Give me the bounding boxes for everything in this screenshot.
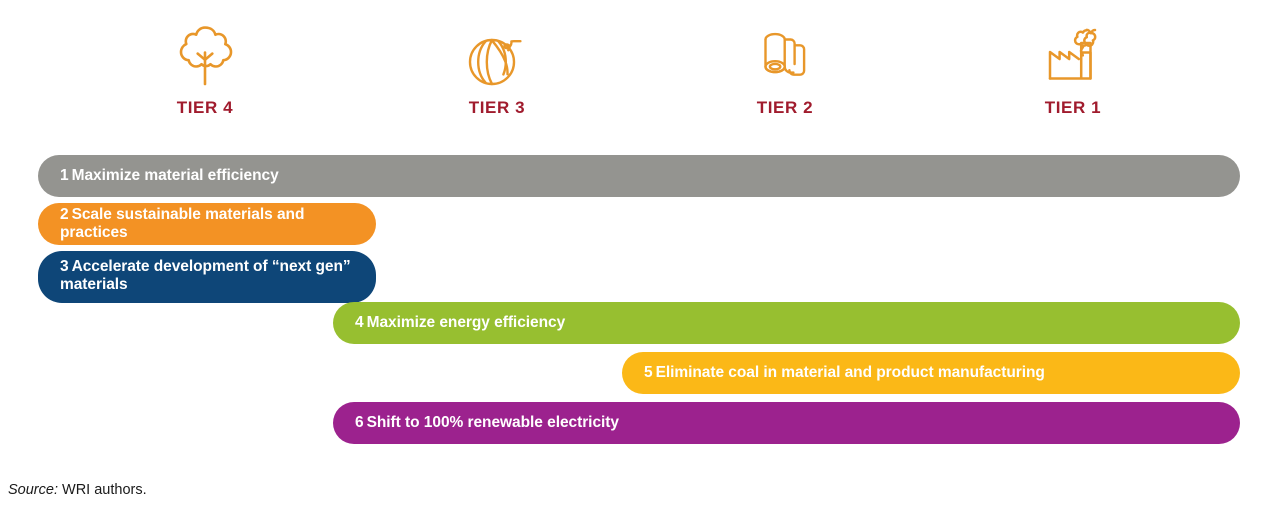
source-text: WRI authors.: [62, 482, 147, 498]
strategy-bar-5[interactable]: 5Eliminate coal in material and product …: [622, 352, 1240, 394]
strategy-text: Maximize material efficiency: [72, 167, 279, 184]
strategy-text: Scale sustainable materials and practice…: [60, 206, 304, 241]
strategy-bar-label: 5Eliminate coal in material and product …: [622, 364, 1063, 382]
strategy-bar-label: 2Scale sustainable materials and practic…: [38, 206, 376, 242]
strategy-number: 1: [60, 167, 69, 184]
strategy-bar-label: 4Maximize energy efficiency: [333, 314, 583, 332]
strategy-bar-label: 1Maximize material efficiency: [38, 167, 297, 185]
strategy-bars-group: 1Maximize material efficiency 2Scale sus…: [0, 0, 1280, 460]
strategy-bar-label: 3Accelerate development of “next gen” ma…: [38, 258, 369, 294]
strategy-bar-4[interactable]: 4Maximize energy efficiency: [333, 302, 1240, 344]
source-prefix: Source:: [8, 482, 58, 498]
strategy-bar-2[interactable]: 2Scale sustainable materials and practic…: [38, 203, 376, 245]
strategy-number: 2: [60, 206, 69, 223]
strategy-bar-3[interactable]: 3Accelerate development of “next gen” ma…: [38, 251, 376, 303]
strategy-text: Accelerate development of “next gen” mat…: [60, 258, 351, 293]
strategy-text: Shift to 100% renewable electricity: [367, 414, 619, 431]
strategy-bar-label: 6Shift to 100% renewable electricity: [333, 414, 637, 432]
strategy-bar-6[interactable]: 6Shift to 100% renewable electricity: [333, 402, 1240, 444]
strategy-text: Eliminate coal in material and product m…: [656, 364, 1045, 381]
strategy-bar-1[interactable]: 1Maximize material efficiency: [38, 155, 1240, 197]
strategy-number: 3: [60, 258, 69, 275]
strategy-number: 5: [644, 364, 653, 381]
strategy-number: 6: [355, 414, 364, 431]
strategy-number: 4: [355, 314, 364, 331]
strategy-text: Maximize energy efficiency: [367, 314, 566, 331]
source-note: Source: WRI authors.: [8, 482, 147, 498]
